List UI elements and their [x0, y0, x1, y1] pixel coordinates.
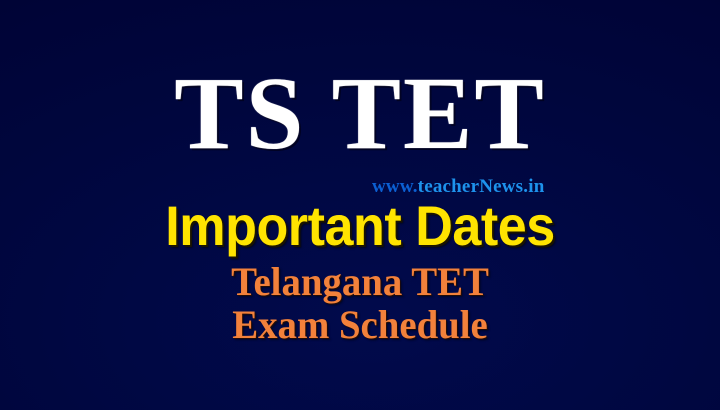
telangana-tet-subtitle: Telangana TET: [11, 262, 709, 302]
important-dates-title: Important Dates: [25, 198, 695, 254]
exam-schedule-subtitle: Exam Schedule: [11, 305, 709, 345]
promo-banner: TS TET www.teacherNews.in Important Date…: [0, 0, 720, 410]
banner-headline: TS TET: [0, 62, 720, 166]
